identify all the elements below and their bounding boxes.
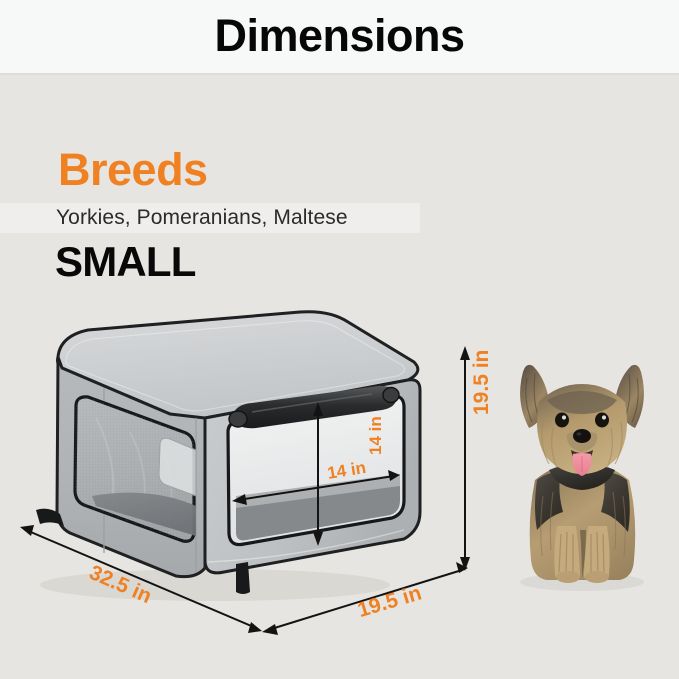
breeds-heading: Breeds xyxy=(58,145,208,195)
header-divider xyxy=(0,73,679,75)
dog-eye-right xyxy=(595,413,609,428)
crate-front-strap xyxy=(236,562,250,594)
dog-nose xyxy=(573,429,591,443)
dog-photo-yorkshire-terrier xyxy=(487,330,677,600)
breeds-list: Yorkies, Pomeranians, Maltese xyxy=(56,205,348,231)
door-height-dimension-label: 14 in xyxy=(366,416,386,455)
height-dimension-label: 19.5 in xyxy=(470,350,494,415)
page-title: Dimensions xyxy=(0,7,679,65)
size-label: SMALL xyxy=(55,238,196,286)
crate-illustration xyxy=(0,300,500,650)
infographic-canvas: Dimensions Breeds Yorkies, Pomeranians, … xyxy=(0,0,679,679)
dog-eye-left xyxy=(555,413,569,428)
